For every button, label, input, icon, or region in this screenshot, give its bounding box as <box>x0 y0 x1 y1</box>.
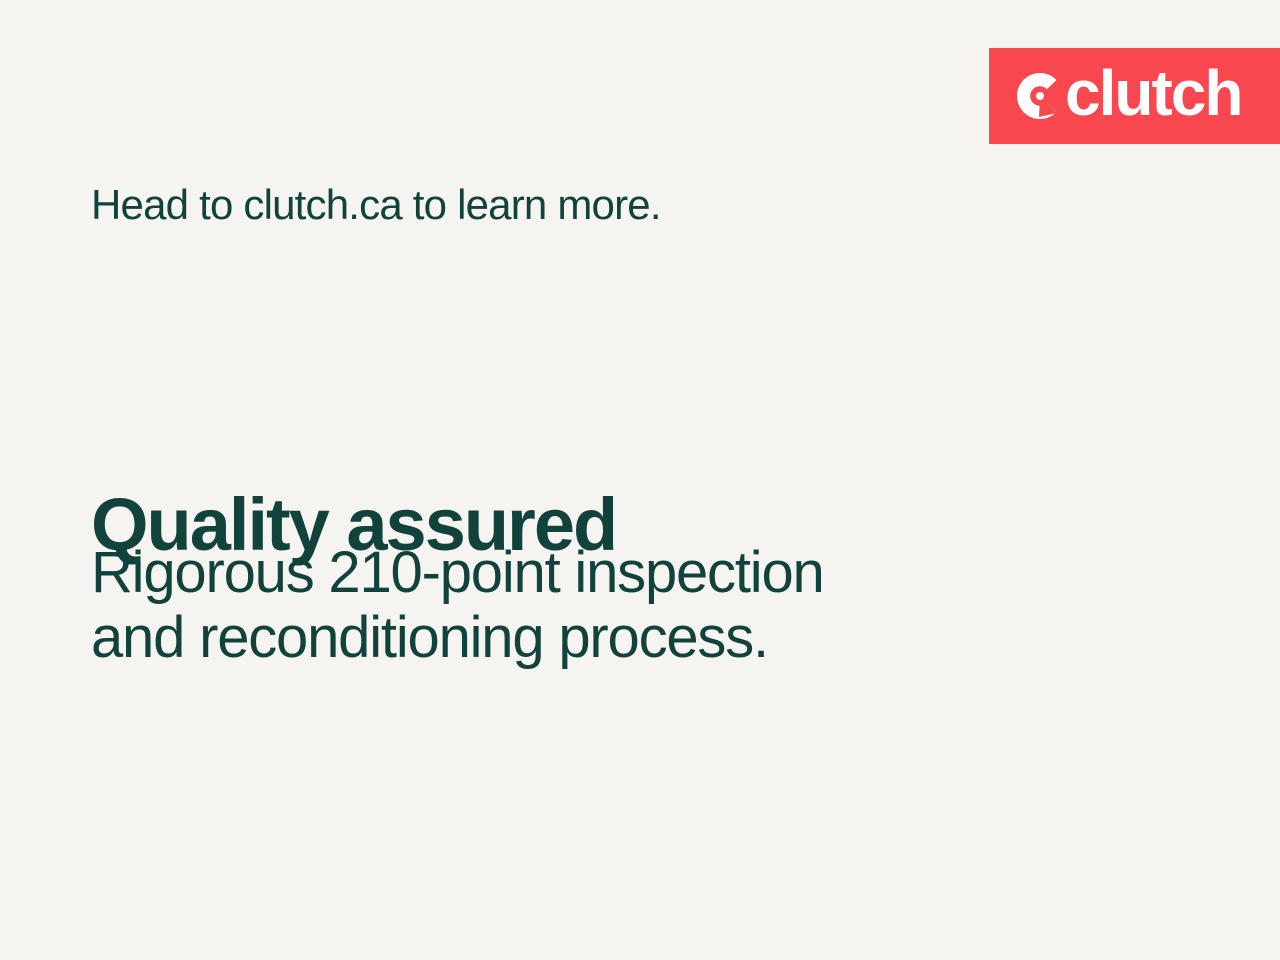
kicker-text: Head to clutch.ca to learn more. <box>91 181 661 229</box>
subcopy-line-2: and reconditioning process. <box>91 606 824 671</box>
clutch-c-gauge-icon <box>1015 71 1065 121</box>
slide-canvas: clutch Head to clutch.ca to learn more. … <box>0 0 1280 960</box>
logo-wordmark: clutch <box>1065 61 1241 125</box>
clutch-logo-badge[interactable]: clutch <box>989 48 1280 144</box>
subcopy-line-1: Rigorous 210-point inspection <box>91 541 824 606</box>
logo-lockup: clutch <box>1015 67 1241 125</box>
subcopy-text: Rigorous 210-point inspection and recond… <box>91 541 824 671</box>
